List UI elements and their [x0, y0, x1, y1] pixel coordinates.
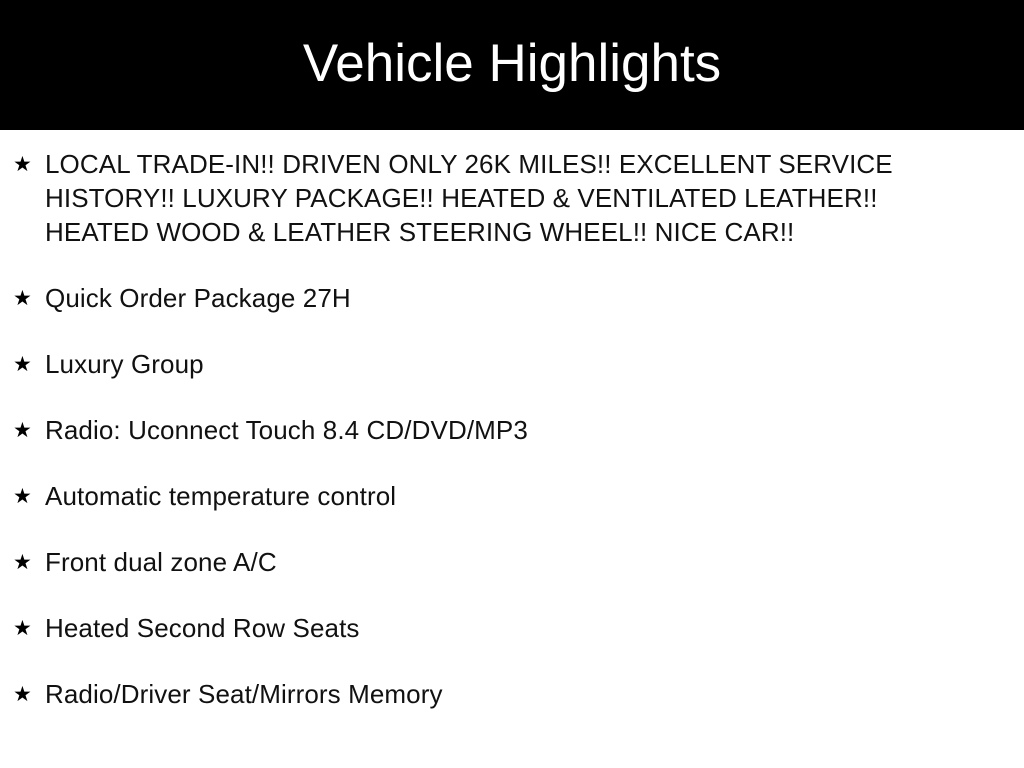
list-item: ★ LOCAL TRADE-IN!! DRIVEN ONLY 26K MILES…: [0, 147, 1024, 249]
star-bullet-icon: ★: [13, 147, 45, 181]
list-item-label: Automatic temperature control: [45, 479, 978, 513]
list-item: ★ Quick Order Package 27H: [0, 281, 1024, 315]
list-item-label: Radio/Driver Seat/Mirrors Memory: [45, 677, 978, 711]
star-bullet-icon: ★: [13, 611, 45, 645]
star-bullet-icon: ★: [13, 347, 45, 381]
list-item-label: Quick Order Package 27H: [45, 281, 978, 315]
vehicle-highlights-list: ★ LOCAL TRADE-IN!! DRIVEN ONLY 26K MILES…: [0, 130, 1024, 711]
star-bullet-icon: ★: [13, 677, 45, 711]
page-title: Vehicle Highlights: [303, 37, 721, 94]
list-item-label: Radio: Uconnect Touch 8.4 CD/DVD/MP3: [45, 413, 978, 447]
list-item: ★ Automatic temperature control: [0, 479, 1024, 513]
list-item: ★ Radio/Driver Seat/Mirrors Memory: [0, 677, 1024, 711]
list-item-label: Luxury Group: [45, 347, 978, 381]
list-item-label: LOCAL TRADE-IN!! DRIVEN ONLY 26K MILES!!…: [45, 147, 978, 249]
list-item: ★ Heated Second Row Seats: [0, 611, 1024, 645]
vehicle-highlights-slide: Vehicle Highlights ★ LOCAL TRADE-IN!! DR…: [0, 0, 1024, 768]
star-bullet-icon: ★: [13, 479, 45, 513]
star-bullet-icon: ★: [13, 545, 45, 579]
star-bullet-icon: ★: [13, 281, 45, 315]
list-item: ★ Front dual zone A/C: [0, 545, 1024, 579]
star-bullet-icon: ★: [13, 413, 45, 447]
slide-header-band: Vehicle Highlights: [0, 0, 1024, 130]
list-item: ★ Luxury Group: [0, 347, 1024, 381]
list-item-label: Front dual zone A/C: [45, 545, 978, 579]
list-item-label: Heated Second Row Seats: [45, 611, 978, 645]
list-item: ★ Radio: Uconnect Touch 8.4 CD/DVD/MP3: [0, 413, 1024, 447]
